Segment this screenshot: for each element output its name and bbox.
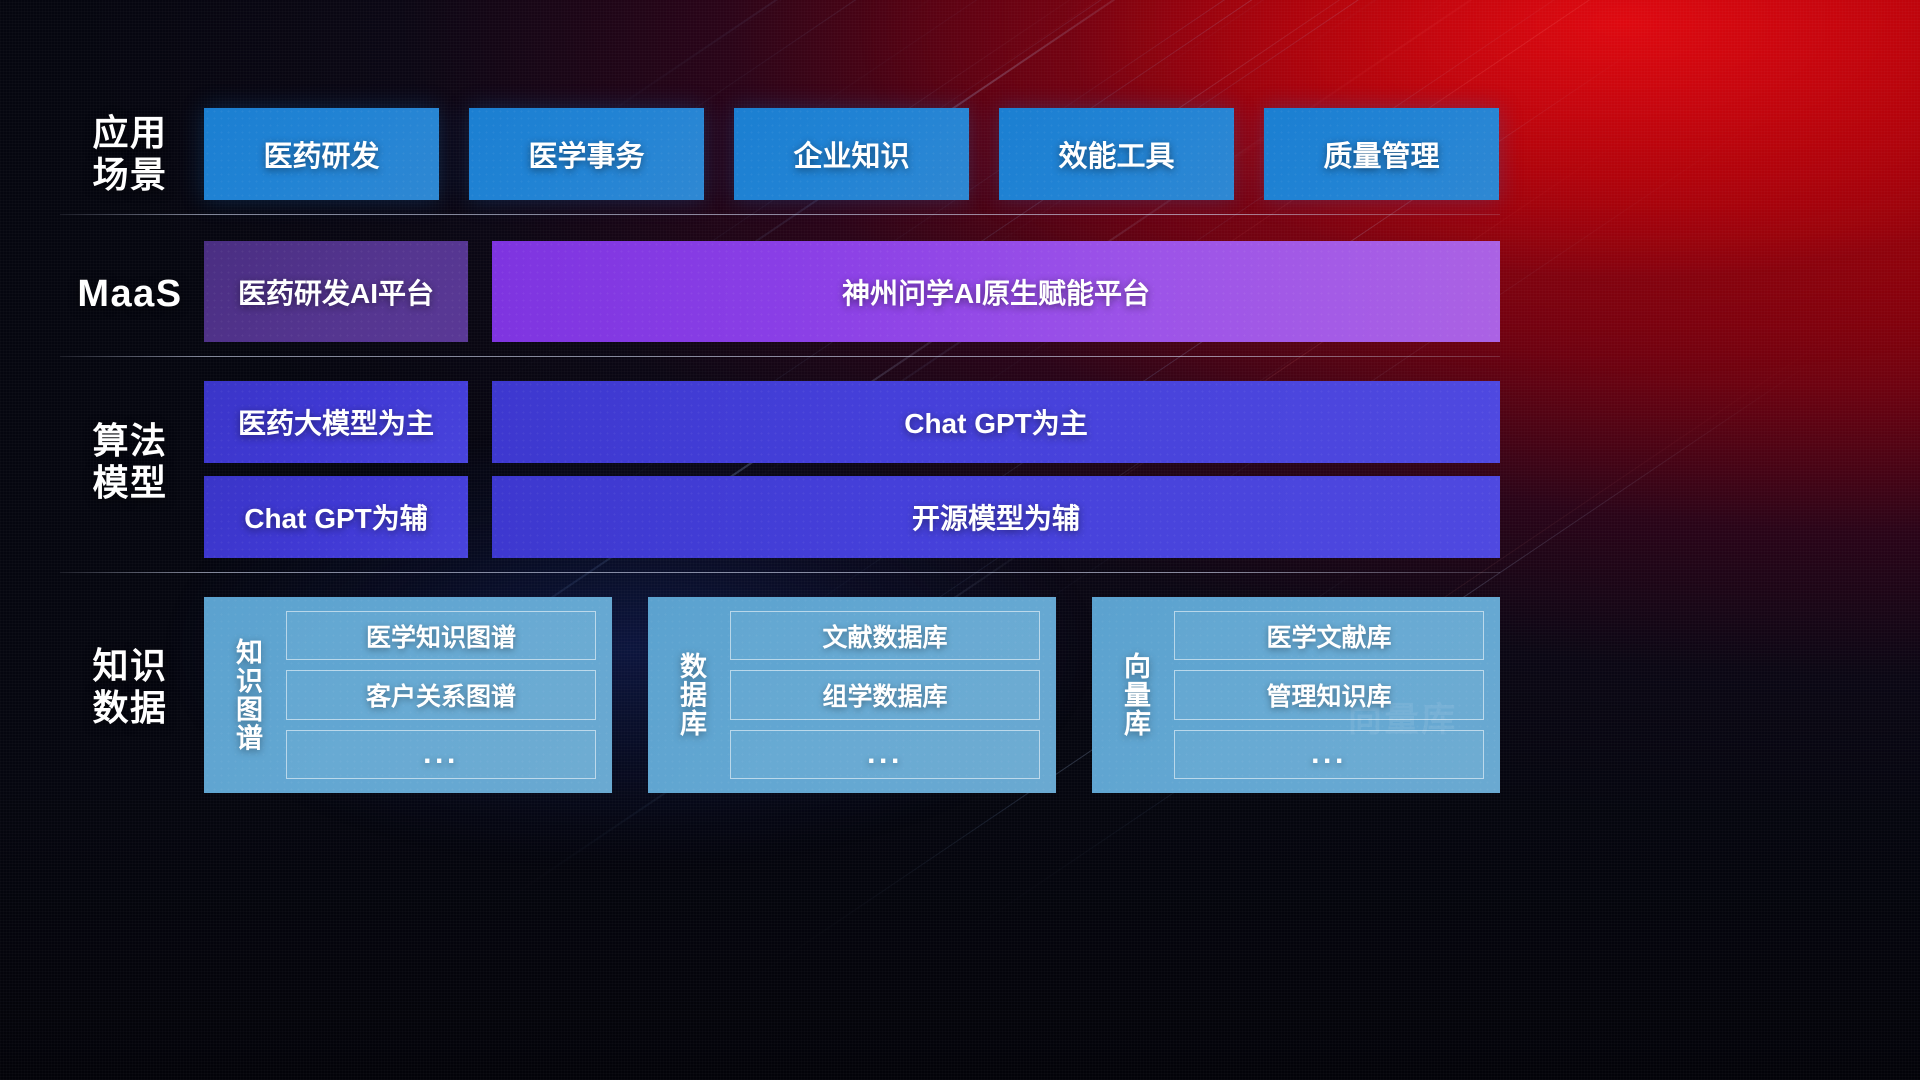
app-box-label: 效能工具 <box>1058 133 1174 175</box>
knowledge-group-items: 医学文献库 管理知识库 ... <box>1174 611 1484 779</box>
maas-box-medicine-rd-ai-platform[interactable]: 医药研发AI平台 <box>204 241 468 342</box>
divider-after-maas <box>60 356 1500 357</box>
knowledge-group-database[interactable]: 数据库 文献数据库 组学数据库 ... <box>648 597 1056 793</box>
app-box-label: 企业知识 <box>793 133 909 175</box>
app-box-medicine-rd[interactable]: 医药研发 <box>204 108 439 200</box>
knowledge-item[interactable]: 医学文献库 <box>1174 611 1484 660</box>
algo-box-opensource-secondary[interactable]: 开源模型为辅 <box>492 476 1500 558</box>
algo-box-label: Chat GPT为辅 <box>244 497 428 537</box>
knowledge-group-vector-database[interactable]: 向量库 向量库 医学文献库 管理知识库 ... <box>1092 597 1500 793</box>
architecture-diagram: 应用 场景 医药研发 医学事务 企业知识 效能工具 质量管理 MaaS 医药研发… <box>0 0 1920 1080</box>
knowledge-item[interactable]: 医学知识图谱 <box>286 611 596 660</box>
knowledge-group-side-label: 数据库 <box>664 611 716 779</box>
knowledge-item[interactable]: 管理知识库 <box>1174 670 1484 719</box>
algo-box-label: 开源模型为辅 <box>912 497 1080 537</box>
knowledge-item[interactable]: 客户关系图谱 <box>286 670 596 719</box>
knowledge-group-items: 文献数据库 组学数据库 ... <box>730 611 1040 779</box>
app-box-medical-affairs[interactable]: 医学事务 <box>469 108 704 200</box>
maas-box-shenzhou-wenxue-platform[interactable]: 神州问学AI原生赋能平台 <box>492 241 1500 342</box>
app-box-label: 医药研发 <box>263 133 379 175</box>
knowledge-item-more[interactable]: ... <box>1174 730 1484 779</box>
knowledge-group-knowledge-graph[interactable]: 知识图谱 医学知识图谱 客户关系图谱 ... <box>204 597 612 793</box>
algo-box-chatgpt-primary[interactable]: Chat GPT为主 <box>492 381 1500 463</box>
row-label-knowledge-data: 知识 数据 <box>60 645 200 729</box>
algo-box-label: 医药大模型为主 <box>238 402 434 442</box>
divider-after-application-scenarios <box>60 214 1500 215</box>
knowledge-group-items: 医学知识图谱 客户关系图谱 ... <box>286 611 596 779</box>
algo-box-chatgpt-secondary[interactable]: Chat GPT为辅 <box>204 476 468 558</box>
app-box-quality-management[interactable]: 质量管理 <box>1264 108 1499 200</box>
knowledge-group-side-label: 向量库 <box>1108 611 1160 779</box>
knowledge-group-side-label: 知识图谱 <box>220 611 272 779</box>
app-box-label: 质量管理 <box>1323 133 1439 175</box>
knowledge-item[interactable]: 文献数据库 <box>730 611 1040 660</box>
maas-box-label: 神州问学AI原生赋能平台 <box>842 272 1150 312</box>
row-label-application-scenarios: 应用 场景 <box>60 112 200 196</box>
algo-box-medicine-large-model-primary[interactable]: 医药大模型为主 <box>204 381 468 463</box>
maas-box-label: 医药研发AI平台 <box>238 272 434 312</box>
row-label-algorithm-models: 算法 模型 <box>60 420 200 504</box>
divider-after-algorithm-models <box>60 572 1500 573</box>
knowledge-item-more[interactable]: ... <box>730 730 1040 779</box>
app-box-efficiency-tools[interactable]: 效能工具 <box>999 108 1234 200</box>
knowledge-item[interactable]: 组学数据库 <box>730 670 1040 719</box>
app-box-label: 医学事务 <box>528 133 644 175</box>
row-label-maas: MaaS <box>60 272 200 316</box>
algo-box-label: Chat GPT为主 <box>904 402 1088 442</box>
diagram-content: 应用 场景 医药研发 医学事务 企业知识 效能工具 质量管理 MaaS 医药研发… <box>0 0 1920 1080</box>
knowledge-item-more[interactable]: ... <box>286 730 596 779</box>
app-box-enterprise-knowledge[interactable]: 企业知识 <box>734 108 969 200</box>
